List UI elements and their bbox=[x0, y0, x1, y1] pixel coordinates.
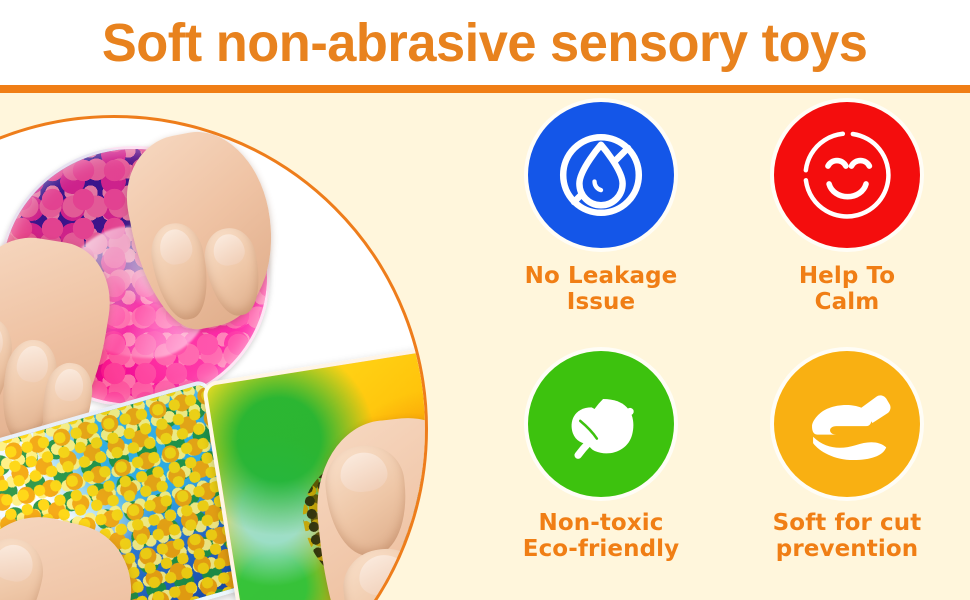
feature-badge-no-leakage bbox=[528, 102, 674, 248]
fingernail bbox=[338, 450, 389, 494]
leaves-icon bbox=[549, 372, 653, 476]
feature-badge-non-toxic bbox=[528, 351, 674, 497]
open-hand-icon bbox=[794, 371, 900, 477]
fingernail bbox=[211, 231, 247, 268]
fingernail bbox=[357, 553, 411, 598]
feature-label-help-to-calm: Help To Calm bbox=[799, 264, 895, 316]
finger bbox=[321, 442, 411, 560]
feature-help-to-calm[interactable]: Help To Calm bbox=[724, 102, 970, 316]
header-divider bbox=[0, 85, 970, 93]
feature-label-non-toxic: Non-toxic Eco-friendly bbox=[523, 511, 679, 563]
finger bbox=[340, 545, 428, 600]
page-title: Soft non-abrasive sensory toys bbox=[93, 16, 878, 70]
feature-grid: No Leakage Issue Help To Calm bbox=[478, 102, 970, 600]
feature-label-no-leakage: No Leakage Issue bbox=[525, 264, 678, 316]
header-band: Soft non-abrasive sensory toys bbox=[0, 0, 970, 85]
feature-badge-soft-for-cut-prevention bbox=[774, 351, 920, 497]
photo-circle-frame bbox=[0, 115, 428, 600]
feature-soft-for-cut-prevention[interactable]: Soft for cut prevention bbox=[724, 351, 970, 563]
feature-no-leakage[interactable]: No Leakage Issue bbox=[478, 102, 724, 316]
feature-label-soft-for-cut-prevention: Soft for cut prevention bbox=[773, 511, 922, 563]
fingernail bbox=[157, 226, 195, 266]
fingernail bbox=[53, 367, 86, 403]
fingernail bbox=[0, 541, 36, 585]
finger bbox=[0, 532, 50, 600]
feature-badge-help-to-calm bbox=[774, 102, 920, 248]
no-water-drop-icon bbox=[547, 121, 655, 229]
fingernail bbox=[15, 344, 51, 385]
product-infographic: Soft non-abrasive sensory toys bbox=[0, 0, 970, 600]
smiley-face-icon bbox=[791, 119, 903, 231]
fingernail bbox=[0, 321, 6, 361]
feature-non-toxic[interactable]: Non-toxic Eco-friendly bbox=[478, 351, 724, 563]
product-photo-collage bbox=[0, 93, 470, 600]
